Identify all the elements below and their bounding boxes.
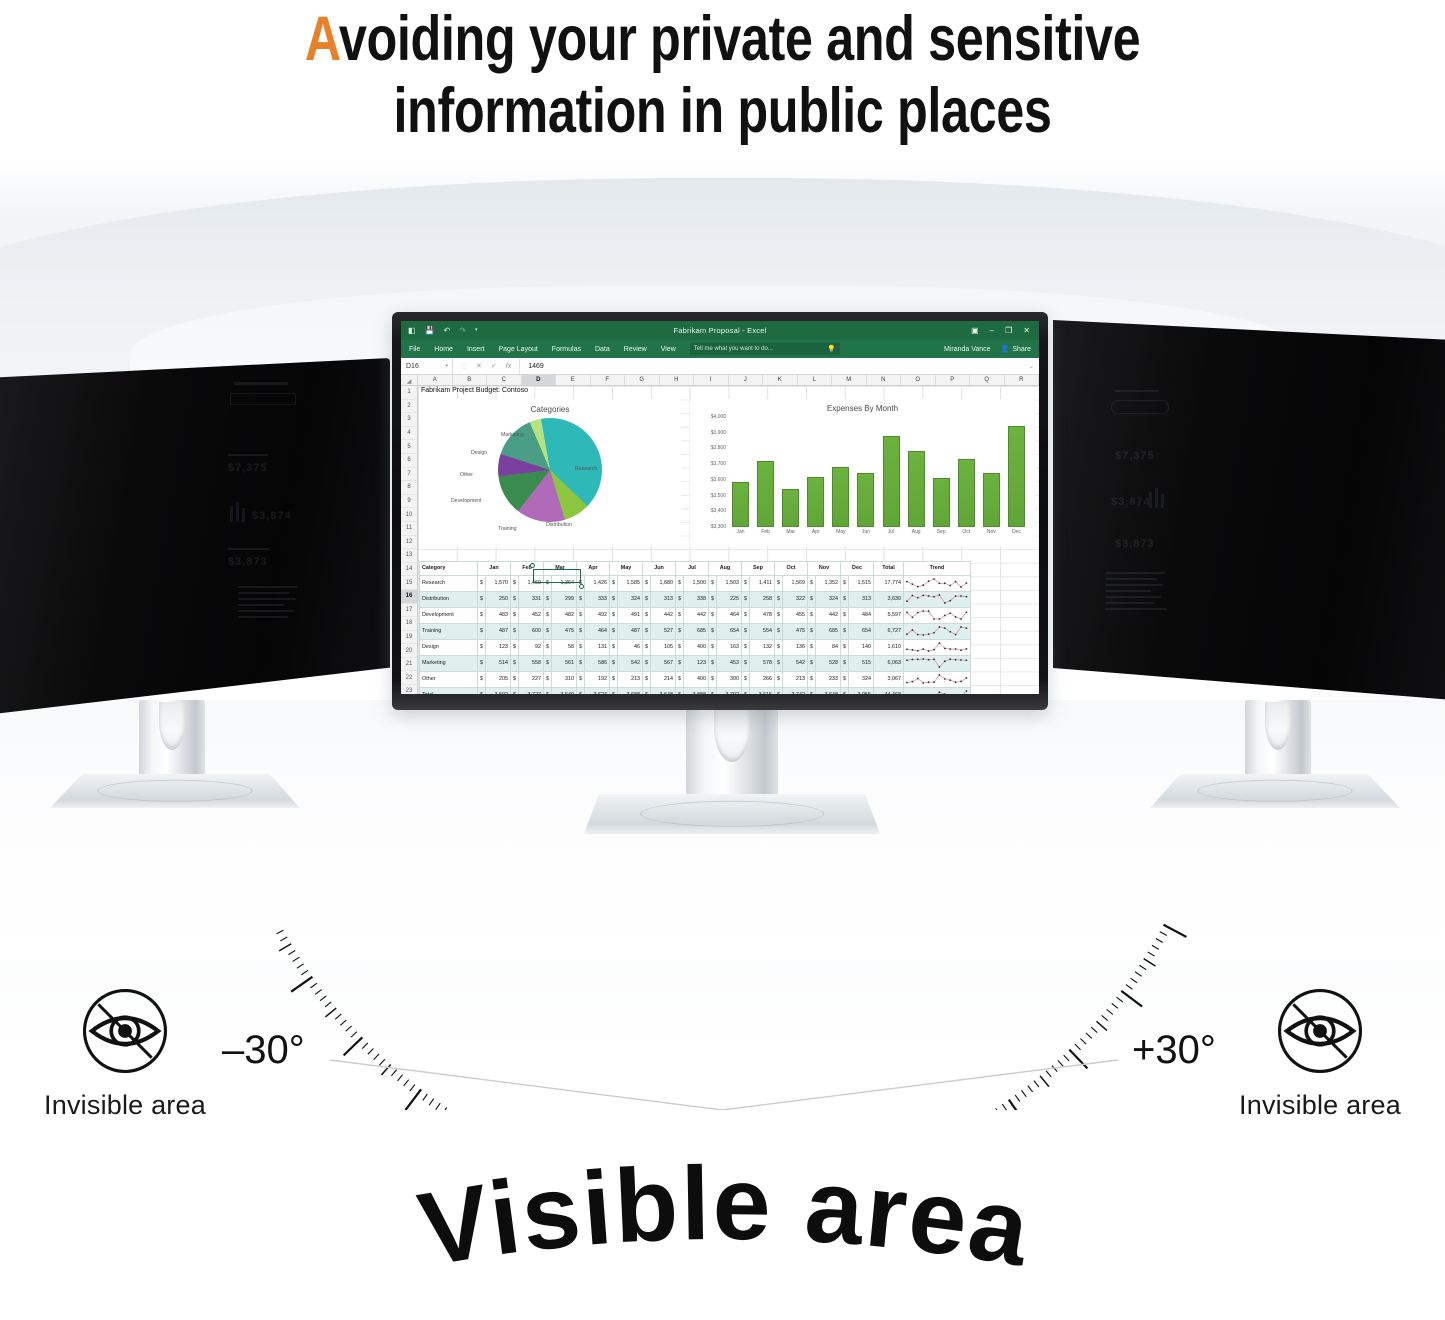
currency-symbol: $ (841, 575, 849, 591)
bar-chart-xtick-jul: Jul (883, 529, 900, 539)
budget-value: 324 (816, 591, 841, 607)
protractor-tick (1135, 972, 1142, 977)
currency-symbol: $ (841, 655, 849, 671)
left-invisible-area-block: Invisible area (30, 985, 220, 1121)
bar-chart-ytick-3: $3,700 (711, 461, 726, 467)
row-header-7[interactable]: 7 (401, 468, 417, 482)
currency-symbol: $ (643, 607, 651, 623)
currency-symbol: $ (676, 671, 684, 687)
currency-symbol: $ (478, 591, 486, 607)
pie-chart-title: Categories (420, 400, 680, 414)
row-header-20[interactable]: 20 (401, 644, 417, 658)
budget-category: Total (420, 687, 478, 694)
bar-jun (857, 473, 874, 527)
budget-sparkline (904, 671, 971, 687)
protractor-tick (1148, 952, 1155, 956)
budget-value: 131 (585, 639, 610, 655)
table-row[interactable]: Research$1,570$1,469$1,364$1,426$1,585$1… (420, 575, 971, 591)
row-header-13[interactable]: 13 (401, 549, 417, 563)
budget-value: 3,742 (783, 687, 808, 694)
protractor-tick (368, 1048, 374, 1054)
budget-value: 123 (684, 655, 709, 671)
budget-value: 3,549 (552, 687, 577, 694)
currency-symbol: $ (478, 639, 486, 655)
pie-label-training: Training (498, 526, 517, 532)
budget-sparkline (904, 623, 971, 639)
budget-value: 214 (651, 671, 676, 687)
budget-value: 1,426 (585, 575, 610, 591)
minimize-icon[interactable]: – (990, 326, 994, 335)
budget-value: 132 (750, 639, 775, 655)
currency-symbol: $ (478, 575, 486, 591)
right-invisible-area-caption: Invisible area (1225, 1090, 1415, 1121)
budget-sparkline (904, 687, 971, 694)
row-header-15[interactable]: 15 (401, 576, 417, 590)
currency-symbol: $ (742, 575, 750, 591)
currency-symbol: $ (808, 639, 816, 655)
close-icon[interactable]: ✕ (1023, 326, 1030, 335)
bar-chart-object[interactable]: Expenses By Month $4,000$3,900$3,800$3,7… (690, 399, 1035, 546)
row-header-18[interactable]: 18 (401, 617, 417, 631)
budget-category: Other (420, 671, 478, 687)
column-header-k[interactable]: K (763, 375, 798, 385)
ribbon-display-options-icon[interactable]: ▣ (971, 326, 979, 335)
row-header-23[interactable]: 23 (401, 685, 417, 694)
budget-value: 140 (849, 639, 874, 655)
budget-table-head: CategoryJanFebMarAprMayJunJulAugSepOctNo… (420, 562, 971, 576)
tell-me-search-box[interactable]: Tell me what you want to do... 💡 (690, 343, 840, 355)
budget-header-oct: Oct (775, 562, 808, 576)
left-monitor-privacy-screen (0, 358, 390, 718)
budget-value: 442 (684, 607, 709, 623)
column-header-g[interactable]: G (625, 375, 660, 385)
currency-symbol: $ (775, 623, 783, 639)
currency-symbol: $ (511, 655, 519, 671)
budget-value: 475 (783, 623, 808, 639)
currency-symbol: $ (610, 591, 618, 607)
currency-symbol: $ (577, 687, 585, 694)
currency-symbol: $ (676, 623, 684, 639)
budget-total: 44,468 (874, 687, 904, 694)
column-header-c[interactable]: C (487, 375, 522, 385)
insert-function-icon[interactable]: fx (506, 363, 511, 370)
currency-symbol: $ (742, 607, 750, 623)
ribbon-tab-list[interactable]: File Home Insert Page Layout Formulas Da… (401, 346, 676, 353)
currency-symbol: $ (841, 623, 849, 639)
currency-symbol: $ (742, 655, 750, 671)
pie-chart-object[interactable]: Categories Research Distribution Trainin… (419, 399, 681, 546)
budget-value: 266 (750, 671, 775, 687)
budget-sparkline (904, 591, 971, 607)
row-header-14[interactable]: 14 (401, 563, 417, 577)
bar-jul (883, 436, 900, 527)
svg-text:Visible area: Visible area (411, 1146, 1038, 1289)
pie-label-research: Research (575, 466, 597, 472)
bar-chart-ytick-0: $4,000 (711, 414, 726, 420)
right-monitor: $7,375 $3,874 $3,873 (1053, 316, 1445, 716)
currency-symbol: $ (577, 623, 585, 639)
bar-chart-xtick-jan: Jan (732, 529, 749, 539)
pie-chart-plot: Research Distribution Training Developme… (420, 414, 680, 534)
budget-total: 5,597 (874, 607, 904, 623)
currency-symbol: $ (577, 639, 585, 655)
window-control-buttons[interactable]: ▣ – ❐ ✕ (971, 326, 1039, 335)
column-header-n[interactable]: N (867, 375, 902, 385)
right-angle-label: +30° (1132, 1028, 1216, 1073)
row-header-11[interactable]: 11 (401, 522, 417, 536)
row-header-4[interactable]: 4 (401, 427, 417, 441)
budget-value: 685 (816, 623, 841, 639)
budget-value: 586 (585, 655, 610, 671)
window-title: Fabrikam Proposal - Excel (401, 326, 1039, 335)
column-header-b[interactable]: B (453, 375, 488, 385)
budget-value: 1,503 (717, 575, 742, 591)
budget-value: 514 (486, 655, 511, 671)
cell-a1-title: Fabrikam Project Budget: Contoso (421, 387, 528, 394)
protractor-tick (1058, 1060, 1063, 1066)
currency-symbol: $ (511, 671, 519, 687)
share-label: Share (1012, 346, 1031, 353)
column-header-h[interactable]: H (660, 375, 695, 385)
budget-value: 1,469 (519, 575, 544, 591)
protractor-tick (1022, 1090, 1027, 1096)
table-row[interactable]: Other$205$227$310$192$213$214$400$300$26… (420, 671, 971, 687)
bar-aug (908, 451, 925, 527)
budget-value: 324 (618, 591, 643, 607)
column-header-r[interactable]: R (1005, 375, 1040, 385)
budget-sparkline (904, 655, 971, 671)
budget-value: 233 (816, 671, 841, 687)
column-header-i[interactable]: I (694, 375, 729, 385)
pie-label-distribution: Distribution (546, 522, 572, 528)
bar-chart-ytick-4: $3,600 (711, 477, 726, 483)
tab-formulas[interactable]: Formulas (552, 346, 581, 353)
protractor-tick (344, 1037, 363, 1055)
bar-dec (1008, 426, 1025, 527)
currency-symbol: $ (709, 655, 717, 671)
tab-view[interactable]: View (661, 346, 676, 353)
protractor-tick (1096, 1021, 1106, 1030)
budget-value: 1,680 (651, 575, 676, 591)
currency-symbol: $ (643, 655, 651, 671)
budget-value: 453 (717, 655, 742, 671)
protractor-tick (1152, 945, 1159, 949)
formula-bar-icons: ⋮ ✕ ✓ fx (453, 358, 520, 374)
currency-symbol: $ (577, 591, 585, 607)
restore-icon[interactable]: ❐ (1005, 326, 1012, 335)
currency-symbol: $ (577, 607, 585, 623)
budget-value: 654 (849, 623, 874, 639)
tab-page-layout[interactable]: Page Layout (498, 346, 537, 353)
currency-symbol: $ (544, 575, 552, 591)
currency-symbol: $ (511, 575, 519, 591)
currency-symbol: $ (511, 687, 519, 694)
budget-value: 452 (519, 607, 544, 623)
currency-symbol: $ (742, 591, 750, 607)
column-header-l[interactable]: L (798, 375, 833, 385)
protractor-tick (1080, 1039, 1086, 1045)
page-headline: Avoiding your private and sensitive info… (0, 0, 1445, 175)
protractor-tick (1064, 1055, 1069, 1061)
budget-value: 1,515 (849, 575, 874, 591)
budget-value: 487 (486, 623, 511, 639)
row-header-22[interactable]: 22 (401, 671, 417, 685)
budget-value: 313 (651, 591, 676, 607)
budget-sparkline (904, 575, 971, 591)
currency-symbol: $ (808, 687, 816, 694)
row-header-12[interactable]: 12 (401, 536, 417, 550)
budget-value: 464 (717, 607, 742, 623)
budget-header-category: Category (420, 562, 478, 576)
left-monitor: $7,375 $3,874 $3,873 (0, 358, 390, 718)
table-row[interactable]: Development$483$452$482$492$491$442$442$… (420, 607, 971, 623)
budget-value: 227 (519, 671, 544, 687)
budget-value: 3,688 (618, 687, 643, 694)
row-header-3[interactable]: 3 (401, 413, 417, 427)
budget-total: 1,610 (874, 639, 904, 655)
protractor-tick (1102, 1015, 1108, 1020)
currency-symbol: $ (544, 671, 552, 687)
budget-category: Marketing (420, 655, 478, 671)
excel-ribbon-tabs: File Home Insert Page Layout Formulas Da… (401, 340, 1039, 358)
currency-symbol: $ (709, 639, 717, 655)
table-row[interactable]: Training$487$600$475$464$487$527$685$654… (420, 623, 971, 639)
budget-value: 455 (783, 607, 808, 623)
budget-header-trend: Trend (904, 562, 971, 576)
protractor-tick (405, 1089, 421, 1110)
bar-chart-xtick-mar: Mar (782, 529, 799, 539)
name-box[interactable]: D16 ▾ (401, 358, 453, 374)
protractor-tick (374, 1054, 379, 1060)
budget-data-table[interactable]: CategoryJanFebMarAprMayJunJulAugSepOctNo… (419, 561, 971, 694)
protractor-tick (1075, 1044, 1081, 1050)
bar-sep (933, 478, 950, 527)
budget-value: 1,500 (684, 575, 709, 591)
budget-value: 400 (684, 671, 709, 687)
cell-grid[interactable]: Fabrikam Project Budget: Contoso Categor… (418, 386, 1039, 694)
budget-value: 600 (519, 623, 544, 639)
formula-input[interactable]: 1469 (520, 363, 544, 370)
budget-category: Development (420, 607, 478, 623)
currency-symbol: $ (544, 655, 552, 671)
protractor-tick (320, 996, 326, 1001)
currency-symbol: $ (808, 575, 816, 591)
tab-file[interactable]: File (409, 346, 420, 353)
budget-value: 46 (618, 639, 643, 655)
budget-header-apr: Apr (577, 562, 610, 576)
currency-symbol: $ (709, 623, 717, 639)
protractor-tick (1139, 965, 1146, 969)
row-header-9[interactable]: 9 (401, 495, 417, 509)
formula-bar: D16 ▾ ⋮ ✕ ✓ fx 1469 ⌄ (401, 358, 1039, 375)
bar-feb (757, 461, 774, 527)
currency-symbol: $ (610, 607, 618, 623)
budget-value: 3,592 (486, 687, 511, 694)
budget-value: 84 (816, 639, 841, 655)
currency-symbol: $ (643, 671, 651, 687)
bar-chart-y-axis: $4,000$3,900$3,800$3,700$3,600$3,500$3,4… (692, 417, 728, 527)
tab-data[interactable]: Data (595, 346, 610, 353)
column-header-m[interactable]: M (832, 375, 867, 385)
column-header-j[interactable]: J (729, 375, 764, 385)
protractor-tick (335, 1014, 341, 1019)
budget-value: 491 (618, 607, 643, 623)
budget-value: 442 (816, 607, 841, 623)
budget-value: 442 (651, 607, 676, 623)
budget-sparkline (904, 607, 971, 623)
currency-symbol: $ (808, 591, 816, 607)
row-header-21[interactable]: 21 (401, 658, 417, 672)
headline-line-2: information in public places (145, 75, 1301, 147)
bar-chart-xtick-aug: Aug (908, 529, 925, 539)
budget-value: 542 (618, 655, 643, 671)
protractor-tick (325, 1002, 331, 1007)
budget-value: 213 (618, 671, 643, 687)
budget-value: 123 (486, 639, 511, 655)
budget-total: 3,067 (874, 671, 904, 687)
row-header-16[interactable]: 16 (401, 590, 417, 604)
column-header-d[interactable]: D (522, 375, 557, 385)
budget-value: 205 (486, 671, 511, 687)
bar-mar (782, 489, 799, 527)
row-header-1[interactable]: 1 (401, 386, 417, 400)
expand-formula-bar-caret-icon[interactable]: ⌄ (1029, 363, 1039, 370)
protractor-tick (404, 1080, 409, 1086)
budget-category: Research (420, 575, 478, 591)
tab-home[interactable]: Home (434, 346, 453, 353)
currency-symbol: $ (643, 575, 651, 591)
row-header-5[interactable]: 5 (401, 440, 417, 454)
tab-review[interactable]: Review (624, 346, 647, 353)
protractor-tick (1028, 1086, 1033, 1092)
name-box-dropdown-icon[interactable]: ▾ (445, 363, 448, 369)
expand-formula-bar-icon[interactable]: ⋮ (461, 363, 467, 370)
column-header-f[interactable]: F (591, 375, 626, 385)
row-header-8[interactable]: 8 (401, 481, 417, 495)
protractor-tick (1112, 1003, 1118, 1008)
budget-value: 1,569 (783, 575, 808, 591)
budget-header-sep: Sep (742, 562, 775, 576)
budget-value: 3,624 (585, 687, 610, 694)
protractor-tick (346, 1026, 352, 1031)
budget-value: 487 (618, 623, 643, 639)
bar-chart-title: Expenses By Month (690, 399, 1035, 413)
currency-symbol: $ (709, 575, 717, 591)
row-header-6[interactable]: 6 (401, 454, 417, 468)
excel-title-bar: ◧ 💾 ↶ ↷ ▾ Fabrikam Proposal - Excel ▣ – … (401, 321, 1039, 340)
currency-symbol: $ (544, 591, 552, 607)
enter-icon[interactable]: ✓ (491, 362, 497, 370)
currency-symbol: $ (478, 687, 486, 694)
budget-value: 527 (651, 623, 676, 639)
select-all-corner[interactable]: ◢ (401, 375, 418, 385)
protractor-tick (1117, 997, 1123, 1002)
protractor-tick (423, 1094, 428, 1100)
column-header-row: ◢ ABCDEFGHIJKLMNOPQR (401, 375, 1039, 386)
protractor-tick (1009, 1100, 1024, 1110)
currency-symbol: $ (841, 591, 849, 607)
currency-symbol: $ (808, 671, 816, 687)
row-header-17[interactable]: 17 (401, 604, 417, 618)
column-header-p[interactable]: P (936, 375, 971, 385)
table-row[interactable]: Distribution$250$331$299$333$324$313$338… (420, 591, 971, 607)
row-header-10[interactable]: 10 (401, 508, 417, 522)
currency-symbol: $ (808, 607, 816, 623)
column-header-e[interactable]: E (556, 375, 591, 385)
column-header-q[interactable]: Q (970, 375, 1005, 385)
table-row[interactable]: Total$3,592$3,727$3,549$3,624$3,688$3,64… (420, 687, 971, 694)
person-icon: 👤 (1001, 345, 1010, 353)
bar-chart-xtick-dec: Dec (1008, 529, 1025, 539)
budget-value: 338 (684, 591, 709, 607)
protractor-tick (1131, 978, 1138, 983)
row-header-2[interactable]: 2 (401, 400, 417, 414)
budget-value: 515 (849, 655, 874, 671)
protractor-tick (362, 1043, 368, 1049)
row-header-19[interactable]: 19 (401, 631, 417, 645)
table-row[interactable]: Design$123$92$58$131$46$105$400$163$132$… (420, 639, 971, 655)
pie-label-design: Design (471, 450, 487, 456)
row-header-column: 1234567891011121314151617181920212223 (401, 386, 418, 694)
center-monitor: ◧ 💾 ↶ ↷ ▾ Fabrikam Proposal - Excel ▣ – … (392, 312, 1048, 710)
budget-value: 58 (552, 639, 577, 655)
budget-value: 3,648 (651, 687, 676, 694)
currency-symbol: $ (676, 607, 684, 623)
column-header-o[interactable]: O (901, 375, 936, 385)
bar-chart-xtick-sep: Sep (933, 529, 950, 539)
currency-symbol: $ (841, 687, 849, 694)
eye-crossed-out-icon (79, 985, 171, 1077)
currency-symbol: $ (775, 607, 783, 623)
currency-symbol: $ (610, 655, 618, 671)
budget-value: 654 (717, 623, 742, 639)
budget-value: 1,411 (750, 575, 775, 591)
currency-symbol: $ (511, 639, 519, 655)
pie-label-development: Development (451, 498, 482, 504)
currency-symbol: $ (775, 671, 783, 687)
budget-header-jan: Jan (478, 562, 511, 576)
protractor-tick (293, 957, 300, 961)
table-row[interactable]: Marketing$514$558$561$586$542$567$123$45… (420, 655, 971, 671)
budget-value: 136 (783, 639, 808, 655)
protractor-tick (1086, 1033, 1092, 1038)
budget-value: 333 (585, 591, 610, 607)
protractor-tick (1160, 932, 1167, 936)
protractor-tick (410, 1085, 415, 1091)
currency-symbol: $ (643, 623, 651, 639)
budget-value: 192 (585, 671, 610, 687)
tell-me-placeholder: Tell me what you want to do... (694, 346, 773, 352)
budget-total: 6,727 (874, 623, 904, 639)
protractor-tick (310, 983, 316, 988)
budget-value: 322 (783, 591, 808, 607)
budget-value: 1,570 (486, 575, 511, 591)
tab-insert[interactable]: Insert (467, 346, 485, 353)
pie-label-other: Other (460, 472, 473, 478)
protractor-tick (1121, 991, 1142, 1007)
user-name[interactable]: Miranda Vance (944, 346, 991, 353)
bar-chart-plot (728, 419, 1029, 527)
currency-symbol: $ (775, 575, 783, 591)
cancel-icon[interactable]: ✕ (476, 362, 482, 370)
protractor-tick (1156, 938, 1163, 942)
share-button[interactable]: 👤 Share (1001, 345, 1031, 353)
excel-window: ◧ 💾 ↶ ↷ ▾ Fabrikam Proposal - Excel ▣ – … (401, 321, 1039, 694)
budget-value: 3,615 (750, 687, 775, 694)
column-header-a[interactable]: A (418, 375, 453, 385)
bar-chart-ytick-1: $3,900 (711, 430, 726, 436)
currency-symbol: $ (775, 591, 783, 607)
